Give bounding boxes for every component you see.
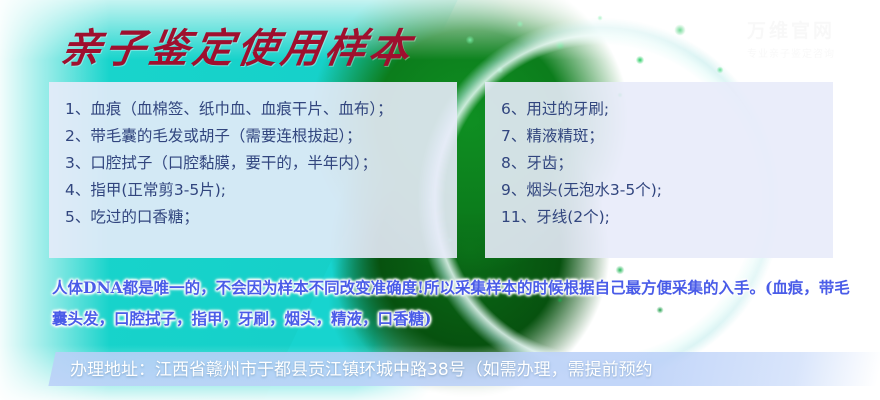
list-item: 4、指甲(正常剪3-5片);	[65, 177, 443, 204]
watermark-main: 万维官网	[726, 18, 856, 47]
note-paragraph: 人体DNA都是唯一的，不会因为样本不同改变准确度!所以采集样本的时候根据自己最方…	[52, 272, 852, 334]
sample-panel-left: 1、血痕（血棉签、纸巾血、血痕干片、血布）； 2、带毛囊的毛发或胡子（需要连根拔…	[49, 82, 457, 258]
list-item: 11、牙线(2个);	[501, 204, 819, 231]
sample-panel-right: 6、用过的牙刷; 7、精液精斑； 8、牙齿； 9、烟头(无泡水3-5个); 11…	[485, 82, 833, 258]
list-item: 9、烟头(无泡水3-5个);	[501, 177, 819, 204]
list-item: 3、口腔拭子（口腔黏膜，要干的，半年内）；	[65, 150, 443, 177]
poster-canvas: 万维官网 专业亲子鉴定咨询 亲子鉴定使用样本 1、血痕（血棉签、纸巾血、血痕干片…	[0, 0, 880, 400]
sample-panels: 1、血痕（血棉签、纸巾血、血痕干片、血布）； 2、带毛囊的毛发或胡子（需要连根拔…	[49, 82, 833, 258]
list-item: 7、精液精斑；	[501, 123, 819, 150]
list-item: 6、用过的牙刷;	[501, 96, 819, 123]
watermark: 万维官网 专业亲子鉴定咨询	[726, 18, 856, 62]
address-bar-text: 办理地址：江西省赣州市于都县贡江镇环城中路38号（如需办理，需提前预约	[70, 355, 880, 385]
page-title: 亲子鉴定使用样本	[57, 16, 418, 74]
watermark-sub: 专业亲子鉴定咨询	[726, 47, 856, 62]
list-item: 1、血痕（血棉签、纸巾血、血痕干片、血布）；	[65, 96, 443, 123]
list-item: 2、带毛囊的毛发或胡子（需要连根拔起）；	[65, 123, 443, 150]
list-item: 8、牙齿；	[501, 150, 819, 177]
list-item: 5、吃过的口香糖；	[65, 204, 443, 231]
